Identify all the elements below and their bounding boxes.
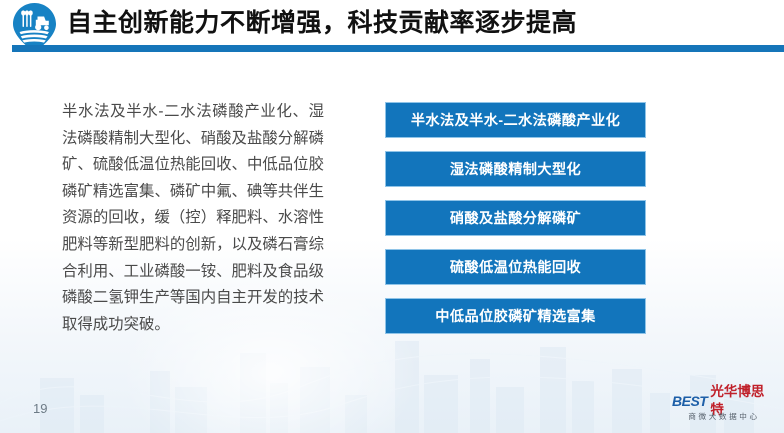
header-accent-rule [12, 45, 784, 52]
slide-header: 自主创新能力不断增强，科技贡献率逐步提高 [0, 0, 784, 54]
description-paragraph: 半水法及半水-二水法磷酸产业化、湿法磷酸精制大型化、硝酸及盐酸分解磷矿、硫酸低温… [62, 99, 324, 338]
slide-canvas: 自主创新能力不断增强，科技贡献率逐步提高 半水法及半水-二水法磷酸产业化、湿法磷… [0, 0, 784, 433]
technology-box[interactable]: 硝酸及盐酸分解磷矿 [385, 200, 646, 236]
technology-box[interactable]: 硫酸低温位热能回收 [385, 249, 646, 285]
brand-logo-row: BEST 光华博思特 [672, 392, 776, 410]
brand-logo: BEST 光华博思特 商微大数据中心 [672, 392, 776, 424]
technology-box[interactable]: 湿法磷酸精制大型化 [385, 151, 646, 187]
page-title: 自主创新能力不断增强，科技贡献率逐步提高 [67, 6, 577, 40]
technology-box[interactable]: 中低品位胶磷矿精选富集 [385, 298, 646, 334]
technology-box-list: 半水法及半水-二水法磷酸产业化 湿法磷酸精制大型化 硝酸及盐酸分解磷矿 硫酸低温… [385, 102, 646, 334]
page-number: 19 [33, 401, 47, 416]
brand-mark-text: BEST [672, 392, 707, 410]
technology-box[interactable]: 半水法及半水-二水法磷酸产业化 [385, 102, 646, 138]
